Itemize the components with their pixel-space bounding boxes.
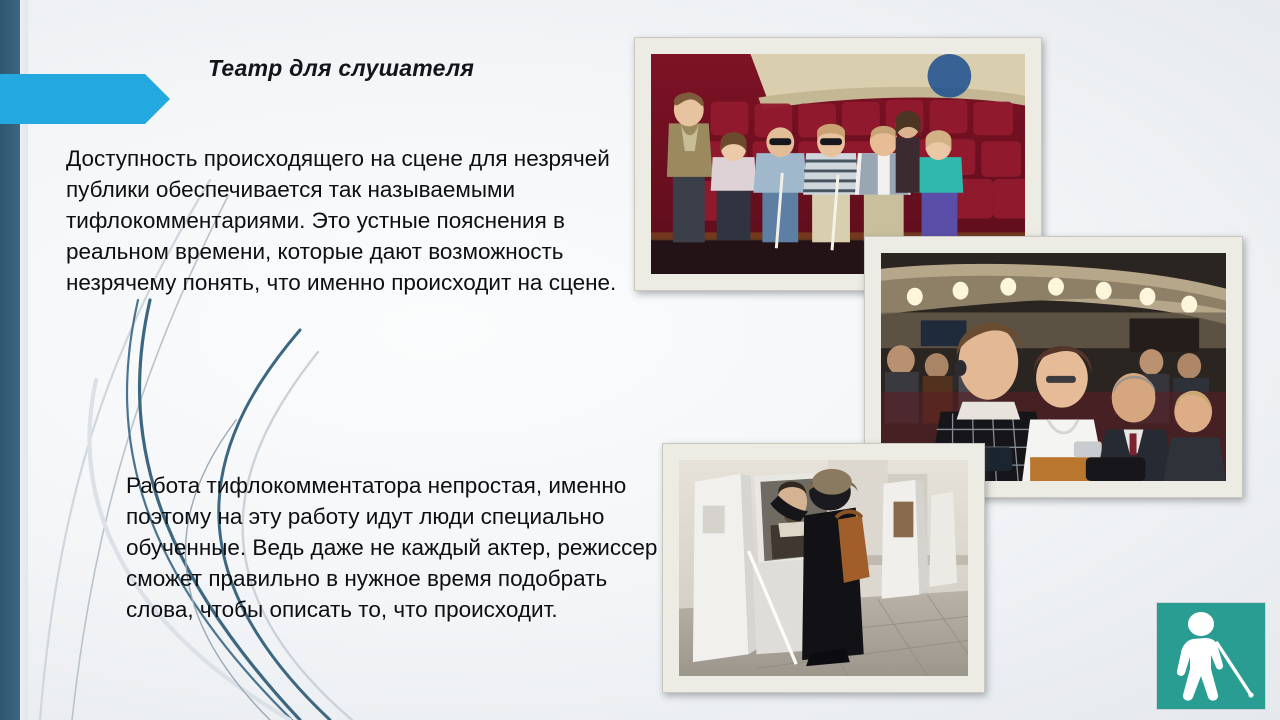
paragraph-commentator-work: Работа тифлокомментатора непростая, имен…	[126, 470, 666, 625]
blind-person-with-cane-icon	[1157, 603, 1265, 709]
presentation-slide: Театр для слушателя Доступность происход…	[0, 0, 1280, 720]
paragraph-accessibility-description: Доступность происходящего на сцене для н…	[66, 143, 646, 298]
photo-museum	[662, 443, 985, 693]
page-title: Театр для слушателя	[208, 55, 628, 82]
blue-arrow-banner	[0, 74, 170, 124]
photo-museum-image	[679, 460, 968, 676]
